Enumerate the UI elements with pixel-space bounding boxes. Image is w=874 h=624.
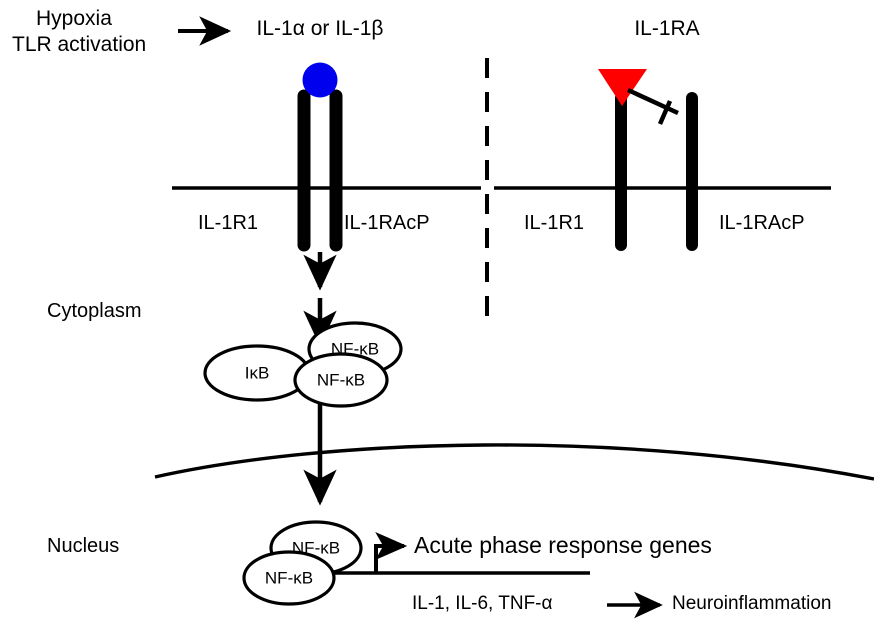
inhibition-arrow-icon (628, 90, 678, 124)
ligand-label-il1: IL-1α or IL-1β (257, 17, 384, 42)
compartment-label-nucleus: Nucleus (47, 535, 119, 559)
receptor-label-il1r1-right: IL-1R1 (524, 212, 584, 236)
output-label-cytokines: IL-1, IL-6, TNF-α (412, 593, 553, 615)
output-label-outcome: Neuroinflammation (672, 593, 831, 615)
transcription-start-arrow-icon (376, 546, 404, 573)
output-label-genes: Acute phase response genes (414, 532, 712, 559)
nfkb-bottom-label-cytoplasm: NF-κB (317, 370, 365, 389)
ligand-label-il1ra: IL-1RA (634, 17, 699, 42)
nfkb-top-label-nucleus: NF-κB (292, 538, 340, 557)
receptor-label-il1racp-right: IL-1RAcP (719, 212, 805, 236)
compartment-label-cytoplasm: Cytoplasm (47, 300, 141, 324)
ligand-il1-blue-circle (303, 63, 338, 98)
nfkb-bottom-label-nucleus: NF-κB (265, 568, 313, 587)
nfkb-top-label-cytoplasm: NF-κB (331, 339, 379, 358)
receptor-label-il1r1-left: IL-1R1 (198, 212, 258, 236)
stimulus-label-line2: TLR activation (12, 33, 146, 58)
ligand-il1ra-red-triangle (598, 69, 647, 106)
receptor-label-il1racp-left: IL-1RAcP (344, 212, 430, 236)
nuclear-envelope-curve (155, 445, 874, 479)
figure-canvas: NF-κB IκB NF-κB NF-κB NF-κB Hypoxia TLR … (0, 0, 874, 624)
ikb-label-cytoplasm: IκB (245, 363, 270, 382)
stimulus-label-line1: Hypoxia (36, 7, 112, 32)
